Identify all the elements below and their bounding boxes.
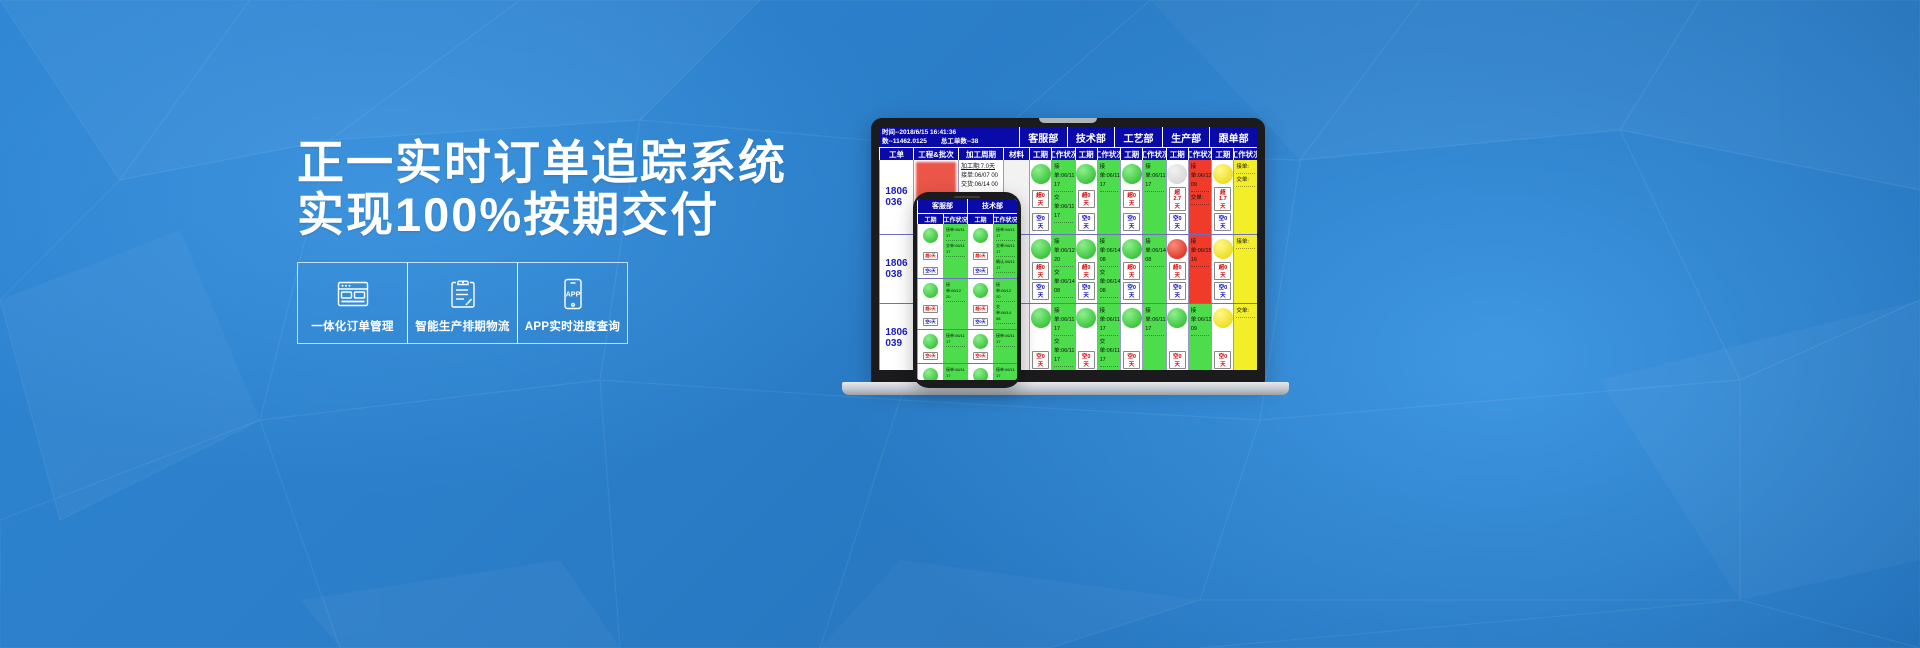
duration-cell[interactable]: 超0天空0天 [1029,160,1051,234]
work-status-cell[interactable]: 接单:06/11 17交单:06/11 17 [943,224,967,278]
laptop-hinge-notch [1039,118,1097,123]
work-status-cell[interactable]: 接单:06/12 09交单: [1188,160,1212,234]
status-text: 交单:06/11 17 [1054,338,1073,367]
status-text: 确认:06/11 17 [996,259,1015,273]
col-header-duration[interactable]: 工期 [1211,148,1233,160]
duration-cell[interactable]: 空0天 [917,330,943,363]
status-badge: 超0天 [923,252,937,260]
department-header[interactable]: 技术部 [967,199,1017,213]
work-status-cell[interactable]: 接单:06/12 20交单:06/14 08 [993,279,1017,329]
status-indicator-icon [1031,164,1051,184]
status-indicator-icon [973,228,988,243]
status-indicator-icon [1213,239,1233,259]
status-indicator-icon [923,228,938,243]
status-text: 接单:06/11 17 [996,367,1015,380]
work-status-cell[interactable]: 接单:06/12 20 [943,279,967,329]
work-status-cell[interactable]: 接单: [1233,235,1257,303]
status-indicator-icon [1076,308,1096,328]
col-header-duration[interactable]: 工期 [1075,148,1097,160]
status-badge: 超0天 [1123,190,1140,208]
duration-cell[interactable]: 超0天空0天 [917,279,943,329]
work-order-cell[interactable]: 1806039 [879,304,913,370]
status-indicator-icon [973,334,988,349]
status-text: 接单:06/11 17 [996,227,1015,241]
status-badge: 空0天 [923,267,937,275]
col-header-workorder[interactable]: 工单 [879,148,913,160]
status-badge: 超0天 [973,305,987,313]
department-header[interactable]: 客服部 [917,199,967,213]
work-status-cell[interactable]: 接单:06/11 17 [993,364,1017,380]
browser-window-icon [336,277,370,311]
status-badge: 空0天 [1169,282,1186,300]
feature-label: APP实时进度查询 [525,318,620,334]
col-header-status[interactable]: 工作状况 [1097,148,1121,160]
col-header-duration[interactable]: 工期 [917,214,943,224]
work-status-cell[interactable]: 接单:06/14 08交单:06/14 08 [1097,235,1121,303]
feature-item-production-scheduling[interactable]: 智能生产排期物流 [407,262,518,344]
status-text: 交单:06/11 17 [996,243,1015,257]
status-indicator-icon [1031,239,1051,259]
status-badge: 超0天 [1214,262,1231,280]
col-header-material[interactable]: 材料 [1003,148,1029,160]
phone-body: 客服部 技术部 工期 工作状况 工期 工作状况 超0天空0天接单:06/11 1… [913,192,1021,388]
duration-cell[interactable]: 超0天空0天 [1120,160,1142,234]
erp-count-label: 数--11462.0125 [882,137,927,146]
status-badge: 空0天 [923,318,937,326]
department-header[interactable]: 生产部 [1162,127,1210,147]
col-header-status[interactable]: 工作状况 [993,214,1017,224]
work-status-cell[interactable]: 交单: [1233,304,1257,370]
table-row[interactable]: 超0天空0天接单:06/12 20超0天空0天接单:06/12 20交单:06/… [917,279,1017,330]
status-text: 接单:06/12 20 [1054,238,1073,267]
status-badge: 超0天 [1123,262,1140,280]
status-badge: 空0天 [1123,213,1140,231]
work-status-cell[interactable]: 接单:06/11 17交单:06/11 17 [1051,160,1075,234]
duration-cell[interactable]: 超0天空0天 [1075,235,1097,303]
duration-cell[interactable]: 超0天空0天 [917,224,943,278]
status-text: 交单: [1191,194,1210,205]
status-indicator-icon [1076,239,1096,259]
status-text: 接单:06/15 16 [1191,238,1210,267]
status-indicator-icon [1031,308,1051,328]
status-text: 交单: [1236,307,1255,318]
col-header-status[interactable]: 工作状况 [943,214,967,224]
status-badge: 空0天 [973,267,987,275]
status-badge: 空0天 [1214,282,1231,300]
status-badge: 空0天 [1169,351,1186,369]
col-header-duration[interactable]: 工期 [967,214,993,224]
status-text: 接单:06/11 17 [1145,307,1164,336]
duration-cell[interactable]: 空0天 [917,364,943,380]
erp-department-strip: 客服部 技术部 工艺部 生产部 跟单部 [1019,127,1257,147]
status-badge: 空0天 [1169,213,1186,231]
duration-cell[interactable]: 空0天 [1166,304,1188,370]
status-text: 接单:06/12 20 [996,282,1015,302]
status-badge: 空0天 [1214,213,1231,231]
work-status-cell[interactable]: 接单:06/12 20交单:06/14 08 [1051,235,1075,303]
status-indicator-icon [923,334,938,349]
work-status-cell[interactable]: 接单:06/11 17交单:06/11 17 [1097,304,1121,370]
duration-cell[interactable]: 空0天 [967,330,993,363]
work-status-cell[interactable]: 接单:06/12 09 [1188,304,1212,370]
duration-cell[interactable]: 超0天空0天 [967,279,993,329]
status-text: 交单:06/11 17 [946,243,965,257]
status-text: 接单:06/11 17 [996,333,1015,347]
status-indicator-icon [1213,308,1233,328]
feature-item-order-management[interactable]: 一体化订单管理 [297,262,408,344]
department-header[interactable]: 客服部 [1019,127,1067,147]
status-indicator-icon [1167,164,1187,184]
col-header-status[interactable]: 工作状况 [1142,148,1166,160]
duration-cell[interactable]: 空0天 [1120,304,1142,370]
status-badge: 空0天 [923,352,937,360]
col-header-lot[interactable]: 工程&批次 [913,148,958,160]
duration-cell[interactable]: 空0天 [1029,304,1051,370]
status-text: 接单:06/12 20 [946,282,965,302]
table-row[interactable]: 空0天接单:06/11 17空0天接单:06/11 17 [917,364,1017,380]
duration-cell[interactable]: 超0天空0天 [1029,235,1051,303]
status-text: 交单:06/14 08 [1054,269,1073,298]
status-indicator-icon [973,368,988,380]
table-row[interactable]: 超0天空0天接单:06/11 17交单:06/11 17超0天空0天接单:06/… [917,224,1017,279]
erp-meta: 时间--2018/6/15 16:41:36 数--11462.0125 总工单… [879,127,1019,147]
laptop-base [842,382,1289,395]
erp-total-label: 总工单数--38 [941,137,979,146]
status-text: 接单:06/11 17 [1145,163,1164,192]
status-badge: 空0天 [1078,282,1095,300]
duration-cell[interactable]: 超0天空0天 [967,224,993,278]
status-text: 接单:06/11 17 [1054,163,1073,192]
status-badge: 超0天 [923,305,937,313]
status-badge: 空0天 [1214,351,1231,369]
status-badge: 超1.7天 [1214,187,1231,211]
clipboard-checklist-icon [448,277,478,311]
phone-screen[interactable]: 客服部 技术部 工期 工作状况 工期 工作状况 超0天空0天接单:06/11 1… [917,199,1017,380]
status-badge: 超0天 [1032,190,1049,208]
table-row[interactable]: 空0天接单:06/11 17空0天接单:06/11 17 [917,330,1017,364]
erp-mobile-column-header-row: 工期 工作状况 工期 工作状况 [917,213,1017,224]
status-indicator-icon [1122,164,1142,184]
hero-banner: 正一实时订单追踪系统 实现100%按期交付 一体化订单管理 [0,0,1920,648]
erp-mobile-top-bar: 客服部 技术部 [917,199,1017,213]
col-header-duration[interactable]: 工期 [1166,148,1188,160]
col-header-duration[interactable]: 工期 [1029,148,1051,160]
status-badge: 超0天 [1169,262,1186,280]
erp-mobile-table-body: 超0天空0天接单:06/11 17交单:06/11 17超0天空0天接单:06/… [917,224,1017,380]
status-text: 接单:06/11 17 [1100,163,1119,192]
status-text: 交单:06/14 08 [1100,269,1119,298]
erp-top-bar: 时间--2018/6/15 16:41:36 数--11462.0125 总工单… [879,127,1257,147]
work-order-cell[interactable]: 1806036 [879,160,913,234]
status-text: 交单: [1236,176,1255,187]
status-text: 接单:06/11 17 [946,367,965,380]
work-status-cell[interactable]: 接单:06/11 17交单:06/11 17确认:06/11 17 [993,224,1017,278]
col-header-cycle[interactable]: 加工周期 [958,148,1003,160]
status-indicator-icon [1122,239,1142,259]
col-header-status[interactable]: 工作状况 [1051,148,1075,160]
status-text: 接单:06/11 17 [946,333,965,347]
status-badge: 超0天 [1078,190,1095,208]
smartphone-mockup: 客服部 技术部 工期 工作状况 工期 工作状况 超0天空0天接单:06/11 1… [913,192,1021,388]
status-text: 接单:06/11 17 [1054,307,1073,336]
col-header-status[interactable]: 工作状况 [1233,148,1257,160]
status-indicator-icon [923,368,938,380]
duration-cell[interactable]: 超2.7天空0天 [1166,160,1188,234]
status-text: 接单:06/11 17 [946,227,965,241]
status-text: 交单:06/14 08 [996,304,1015,324]
status-indicator-icon [1213,164,1233,184]
status-text: 接单:06/12 09 [1191,307,1210,336]
status-indicator-icon [1122,308,1142,328]
work-order-cell[interactable]: 1806038 [879,235,913,303]
duration-cell[interactable]: 空0天 [967,364,993,380]
duration-cell[interactable]: 空0天 [1075,304,1097,370]
work-status-cell[interactable]: 接单:06/11 17交单:06/11 17 [1051,304,1075,370]
status-text: 接单:06/12 09 [1191,163,1210,192]
status-indicator-icon [923,283,938,298]
status-badge: 空0天 [1123,351,1140,369]
col-header-duration[interactable]: 工期 [1120,148,1142,160]
status-text: 接单:06/11 17 [1100,307,1119,336]
status-badge: 空0天 [1032,351,1049,369]
status-badge: 空0天 [1078,351,1095,369]
status-text: 接单: [1236,163,1255,174]
status-text: 接单:06/14 08 [1100,238,1119,267]
work-status-cell[interactable]: 接单:06/11 17 [1142,304,1166,370]
work-status-cell[interactable]: 接单:06/14 08 [1142,235,1166,303]
status-badge: 空0天 [1032,213,1049,231]
phone-speaker-icon [954,196,980,198]
feature-label: 智能生产排期物流 [415,318,509,334]
col-header-status[interactable]: 工作状况 [1188,148,1212,160]
duration-cell[interactable]: 超0天空0天 [1120,235,1142,303]
department-header[interactable]: 技术部 [1067,127,1115,147]
status-text: 交单:06/11 17 [1100,338,1119,367]
status-badge: 空0天 [1078,213,1095,231]
status-indicator-icon [1167,308,1187,328]
work-status-cell[interactable]: 接单:06/11 17 [1097,160,1121,234]
duration-cell[interactable]: 空0天 [1211,304,1233,370]
status-badge: 空0天 [973,318,987,326]
status-badge: 超0天 [973,252,987,260]
erp-mobile-dashboard: 客服部 技术部 工期 工作状况 工期 工作状况 超0天空0天接单:06/11 1… [917,199,1017,380]
status-indicator-icon [1167,239,1187,259]
work-status-cell[interactable]: 接单:06/11 17 [943,364,967,380]
status-text: 接单: [1236,238,1255,249]
work-status-cell[interactable]: 接单:06/15 16 [1188,235,1212,303]
status-text: 接单:06/14 08 [1145,238,1164,267]
erp-time-label: 时间--2018/6/15 16:41:36 [882,128,1016,137]
erp-mobile-department-strip: 客服部 技术部 [917,199,1017,213]
status-text: 交单:06/11 17 [1054,194,1073,223]
department-header[interactable]: 跟单部 [1209,127,1257,147]
status-badge: 超0天 [1032,262,1049,280]
status-badge: 空0天 [1032,282,1049,300]
erp-column-header-row: 工单 工程&批次 加工周期 材料 工期 工作状况 工期 工作状况 工期 工作状况… [879,147,1257,160]
status-badge: 超0天 [1078,262,1095,280]
duration-cell[interactable]: 超0天空0天 [1166,235,1188,303]
app-icon-text: APP [565,289,580,298]
status-badge: 超2.7天 [1169,187,1186,211]
duration-cell[interactable]: 超0天空0天 [1075,160,1097,234]
feature-label: 一体化订单管理 [311,318,394,334]
status-badge: 空0天 [1123,282,1140,300]
status-badge: 空0天 [973,352,987,360]
work-status-cell[interactable]: 接单:06/11 17 [993,330,1017,363]
mobile-app-icon: APP [561,277,585,311]
work-status-cell[interactable]: 接单:交单: [1233,160,1257,234]
work-status-cell[interactable]: 接单:06/11 17 [1142,160,1166,234]
status-indicator-icon [973,283,988,298]
duration-cell[interactable]: 超0天空0天 [1211,235,1233,303]
status-indicator-icon [1076,164,1096,184]
work-status-cell[interactable]: 接单:06/11 17 [943,330,967,363]
department-header[interactable]: 工艺部 [1114,127,1162,147]
feature-item-app-progress-query[interactable]: APP APP实时进度查询 [517,262,628,344]
feature-list: 一体化订单管理 智能生产排期物流 [297,262,628,344]
duration-cell[interactable]: 超1.7天空0天 [1211,160,1233,234]
